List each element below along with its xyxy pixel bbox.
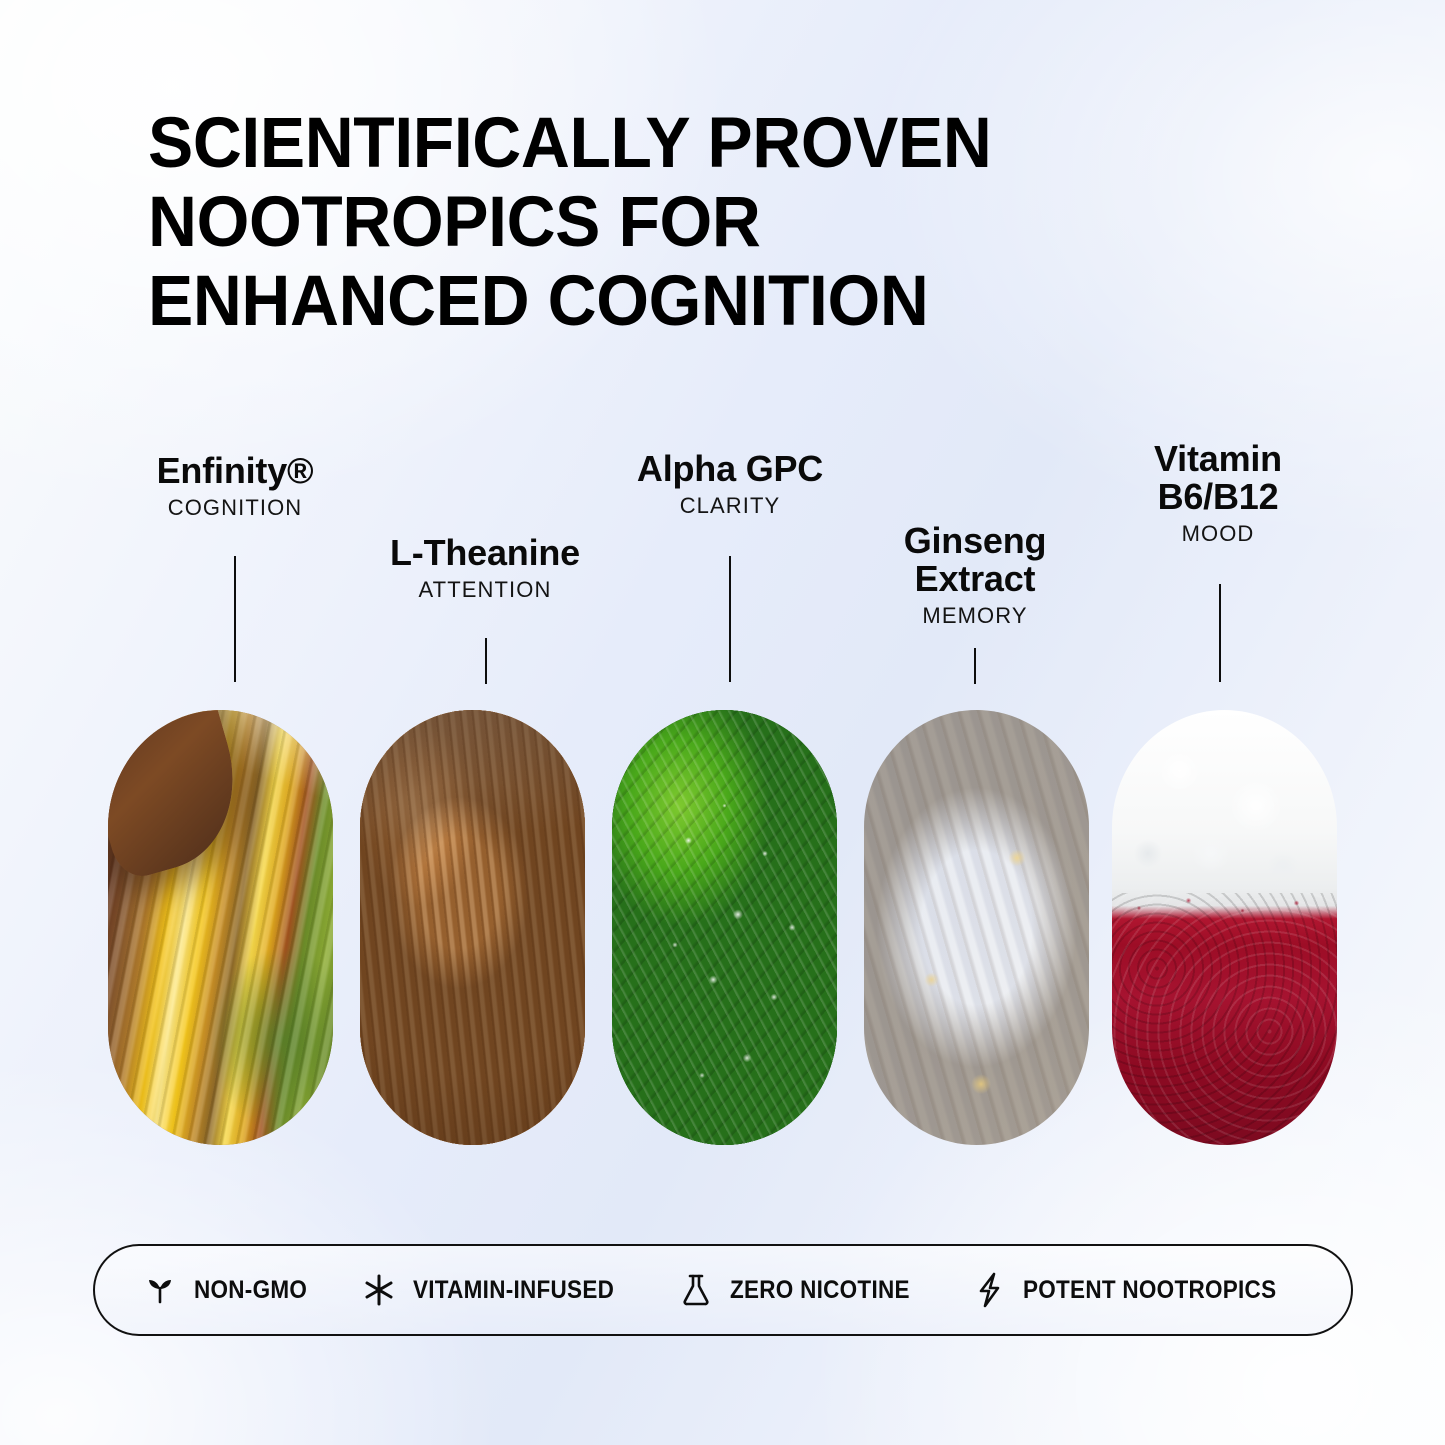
ingredient-image-almonds (360, 710, 585, 1145)
infographic-canvas: SCIENTIFICALLY PROVEN NOOTROPICS FOR ENH… (0, 0, 1445, 1445)
ginger-root-photo (864, 710, 1089, 1145)
feature-zero-nicotine: ZERO NICOTINE (677, 1271, 930, 1309)
ingredient-callout-enfinity: Enfinity® COGNITION (55, 452, 415, 521)
leader-line-enfinity (234, 556, 236, 682)
ingredient-benefit: ATTENTION (305, 577, 665, 603)
ingredient-benefit: MEMORY (795, 603, 1155, 629)
ingredient-benefit: COGNITION (55, 495, 415, 521)
green-tea-leaves-photo (612, 710, 837, 1145)
ingredient-callout-alpha-gpc: Alpha GPC CLARITY (550, 450, 910, 519)
page-title: SCIENTIFICALLY PROVEN NOOTROPICS FOR ENH… (148, 104, 1103, 341)
feature-non-gmo: NON-GMO (141, 1271, 320, 1309)
feature-label: ZERO NICOTINE (730, 1276, 910, 1305)
ingredient-benefit: CLARITY (550, 493, 910, 519)
feature-potent-nootropics: POTENT NOOTROPICS (970, 1271, 1305, 1309)
feature-badge-bar: NON-GMO VITAMIN-INFUSED ZERO NICOTINE (93, 1244, 1353, 1336)
feature-label: VITAMIN-INFUSED (413, 1276, 614, 1305)
lightning-bolt-icon (970, 1271, 1008, 1309)
feature-label: NON-GMO (194, 1276, 307, 1305)
leader-line-vitamin-b6-b12 (1219, 584, 1221, 682)
almonds-photo (360, 710, 585, 1145)
ingredient-callout-vitamin-b6-b12: Vitamin B6/B12 MOOD (1038, 440, 1398, 547)
sparkle-icon (360, 1271, 398, 1309)
ingredient-benefit: MOOD (1038, 521, 1398, 547)
leader-line-l-theanine (485, 638, 487, 684)
ingredient-image-tea-leaves (612, 710, 837, 1145)
ingredient-image-powder (1112, 710, 1337, 1145)
sprout-icon (141, 1271, 179, 1309)
leader-line-alpha-gpc (729, 556, 731, 682)
ingredient-image-ginger (864, 710, 1089, 1145)
ingredient-image-cacao (108, 710, 333, 1145)
leader-line-ginseng-extract (974, 648, 976, 684)
feature-label: POTENT NOOTROPICS (1023, 1276, 1276, 1305)
ingredient-name: L-Theanine (305, 534, 665, 572)
ingredient-name: Alpha GPC (550, 450, 910, 488)
ingredient-callout-l-theanine: L-Theanine ATTENTION (305, 534, 665, 603)
ingredient-name: Vitamin B6/B12 (1038, 440, 1398, 516)
white-and-red-powder-photo (1112, 710, 1337, 1145)
feature-vitamin-infused: VITAMIN-INFUSED (360, 1271, 636, 1309)
flask-icon (677, 1271, 715, 1309)
cacao-pods-photo (108, 710, 333, 1145)
ingredient-name: Enfinity® (55, 452, 415, 490)
